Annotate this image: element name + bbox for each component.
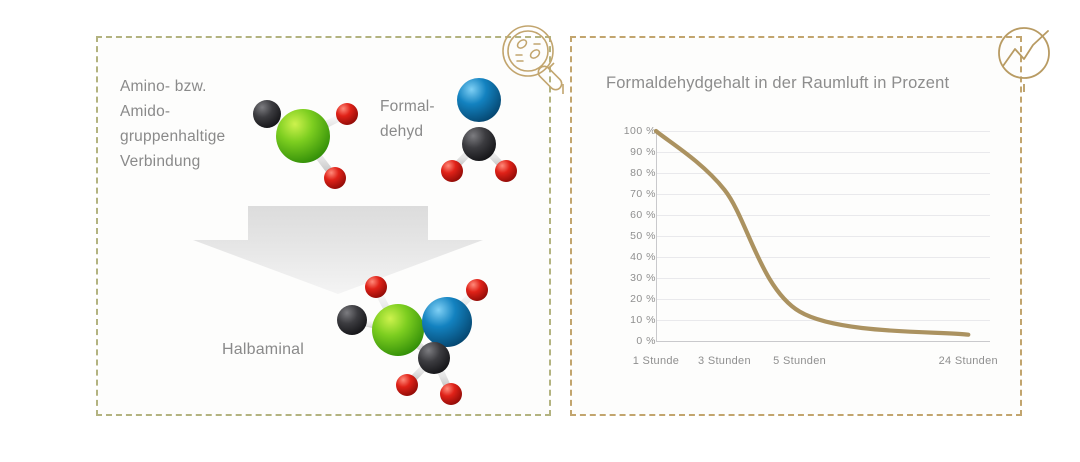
series-formaldehydgehalt <box>656 131 968 335</box>
molecule-halbaminal <box>330 272 498 407</box>
x-axis-tick: 1 Stunde <box>633 355 679 367</box>
chart-line-series <box>610 122 1000 367</box>
x-axis-tick: 24 Stunden <box>939 355 998 367</box>
x-axis-tick: 5 Stunden <box>773 355 826 367</box>
trend-chart-icon <box>988 18 1064 94</box>
magnifier-icon-container <box>497 20 573 96</box>
molecule-amino <box>243 88 368 193</box>
magnifier-icon <box>497 20 573 96</box>
chart-title: Formaldehydgehalt in der Raumluft in Pro… <box>606 74 949 93</box>
chart-plot-area: 100 %90 %80 %70 %60 %50 %40 %30 %20 %10 … <box>610 122 1000 367</box>
x-axis-tick: 3 Stunden <box>698 355 751 367</box>
trend-chart-icon-container <box>988 18 1064 94</box>
